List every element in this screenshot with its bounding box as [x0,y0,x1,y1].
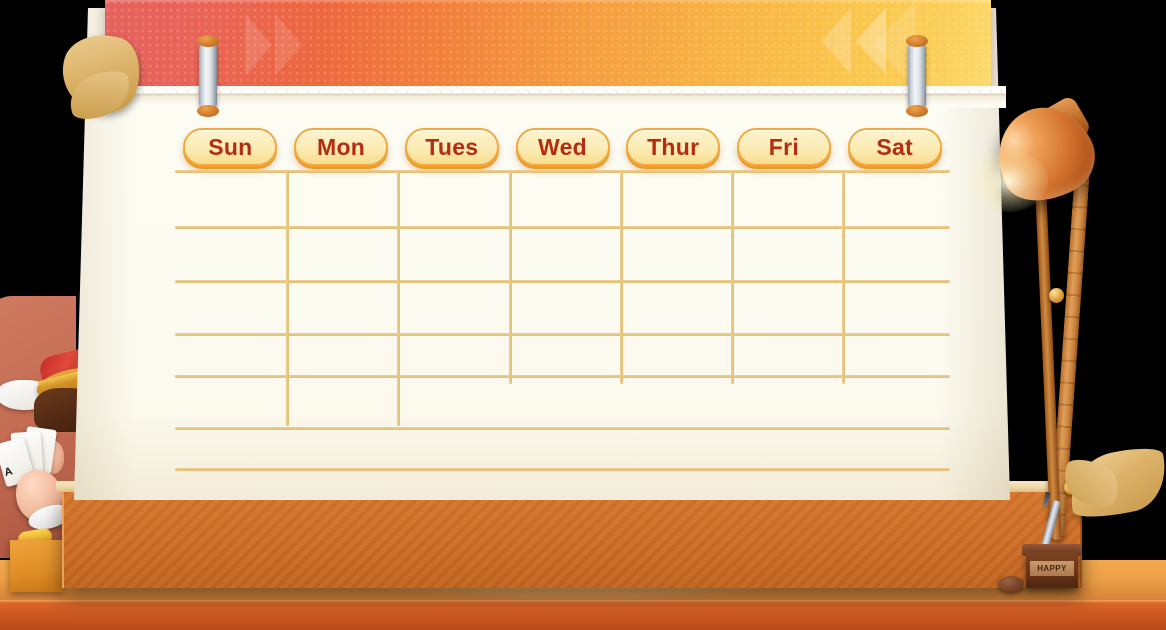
grid-vline [397,170,400,426]
day-pill-sat[interactable]: Sat [848,128,942,166]
day-header-cell-sun[interactable]: Sun [175,124,286,170]
day-pill-wed[interactable]: Wed [516,128,610,166]
grid-hline [175,280,950,283]
day-header-row: Sun Mon Tues Wed Thur Fri Sat [175,124,950,170]
grid-vline [731,170,734,384]
easel-base [62,492,1082,588]
day-pill-mon[interactable]: Mon [294,128,388,166]
calendar-scene: A Sun Mon Tues Wed Thur [0,0,1166,630]
inkwell-label: HAPPY [1030,561,1074,576]
day-header-cell-fri[interactable]: Fri [729,124,840,170]
grid-lines [175,170,950,484]
day-header-cell-mon[interactable]: Mon [286,124,397,170]
chevron-left-icon [856,8,886,74]
day-header-cell-sat[interactable]: Sat [839,124,950,170]
grid-hline [175,468,950,471]
day-header-cell-tues[interactable]: Tues [396,124,507,170]
day-pill-fri[interactable]: Fri [737,128,831,166]
day-pill-sun[interactable]: Sun [183,128,277,166]
grid-vline [620,170,623,384]
inkwell-lid-icon [998,576,1024,592]
grid-vline [509,170,512,384]
grid-hline [175,333,950,336]
day-pill-thur[interactable]: Thur [626,128,720,166]
gift-box-icon [10,540,64,592]
grid-vline [286,170,289,426]
chevron-left-icon [245,14,272,76]
chevron-left-icon [275,14,302,76]
grid-hline [175,375,950,378]
chevron-left-icon [821,8,851,74]
card-rank-label: A [3,465,14,479]
day-header-cell-thur[interactable]: Thur [618,124,729,170]
calendar-grid: Sun Mon Tues Wed Thur Fri Sat [175,124,950,484]
calendar-header-banner [105,0,991,90]
binder-pin-icon[interactable] [908,40,926,112]
desk-edge [0,600,1166,630]
grid-hline [175,427,950,430]
inkwell-icon: HAPPY [1026,552,1078,588]
grid-hline [175,226,950,229]
day-header-cell-wed[interactable]: Wed [507,124,618,170]
day-pill-tues[interactable]: Tues [405,128,499,166]
grid-vline [842,170,845,384]
binder-pin-icon[interactable] [199,40,217,112]
grid-hline [175,170,950,173]
lamp-joint [1049,288,1064,303]
